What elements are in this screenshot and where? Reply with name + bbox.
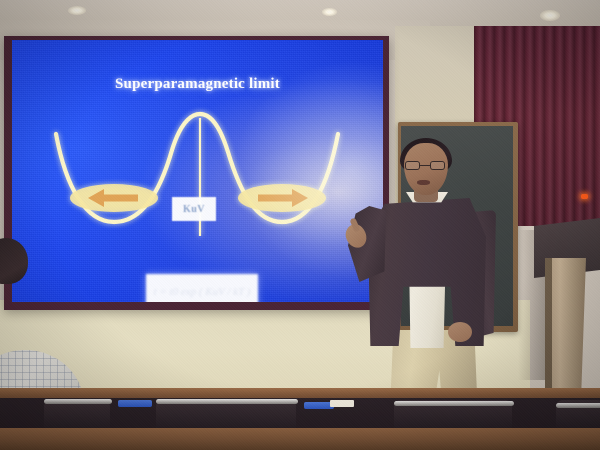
lecture-hall-photo: Superparamagnetic limit: [0, 0, 600, 450]
ceiling-light-icon: [68, 6, 86, 15]
seat[interactable]: [44, 400, 110, 430]
desk-paper: [330, 400, 354, 407]
projection-screen-frame: Superparamagnetic limit: [4, 36, 389, 310]
podium-edge: [545, 258, 552, 394]
glasses-lens-right: [430, 161, 445, 170]
ceiling-light-icon: [540, 10, 560, 21]
glasses-lens-left: [405, 161, 420, 170]
seat-rail: [156, 399, 298, 404]
seat-rail: [394, 401, 514, 406]
seat[interactable]: [156, 400, 296, 430]
slide-title: Superparamagnetic limit: [12, 76, 383, 93]
glasses-bridge: [420, 165, 430, 166]
desk-ledge-near: [0, 428, 600, 450]
indicator-led-icon: [581, 194, 588, 199]
speaker-right-hand: [448, 322, 472, 342]
seat-rail: [556, 403, 600, 408]
desk-light-reflection: [118, 400, 152, 407]
seat-rail: [44, 399, 112, 404]
energy-barrier-label: KuV: [172, 197, 216, 221]
ceiling-light-icon: [322, 8, 337, 16]
podium-body: [546, 258, 586, 394]
speaker-mouth: [417, 180, 430, 185]
relaxation-formula: t = t0 exp ( KuV / kT ): [146, 274, 258, 302]
projected-slide: Superparamagnetic limit: [12, 40, 383, 302]
glasses-icon: [405, 161, 445, 170]
